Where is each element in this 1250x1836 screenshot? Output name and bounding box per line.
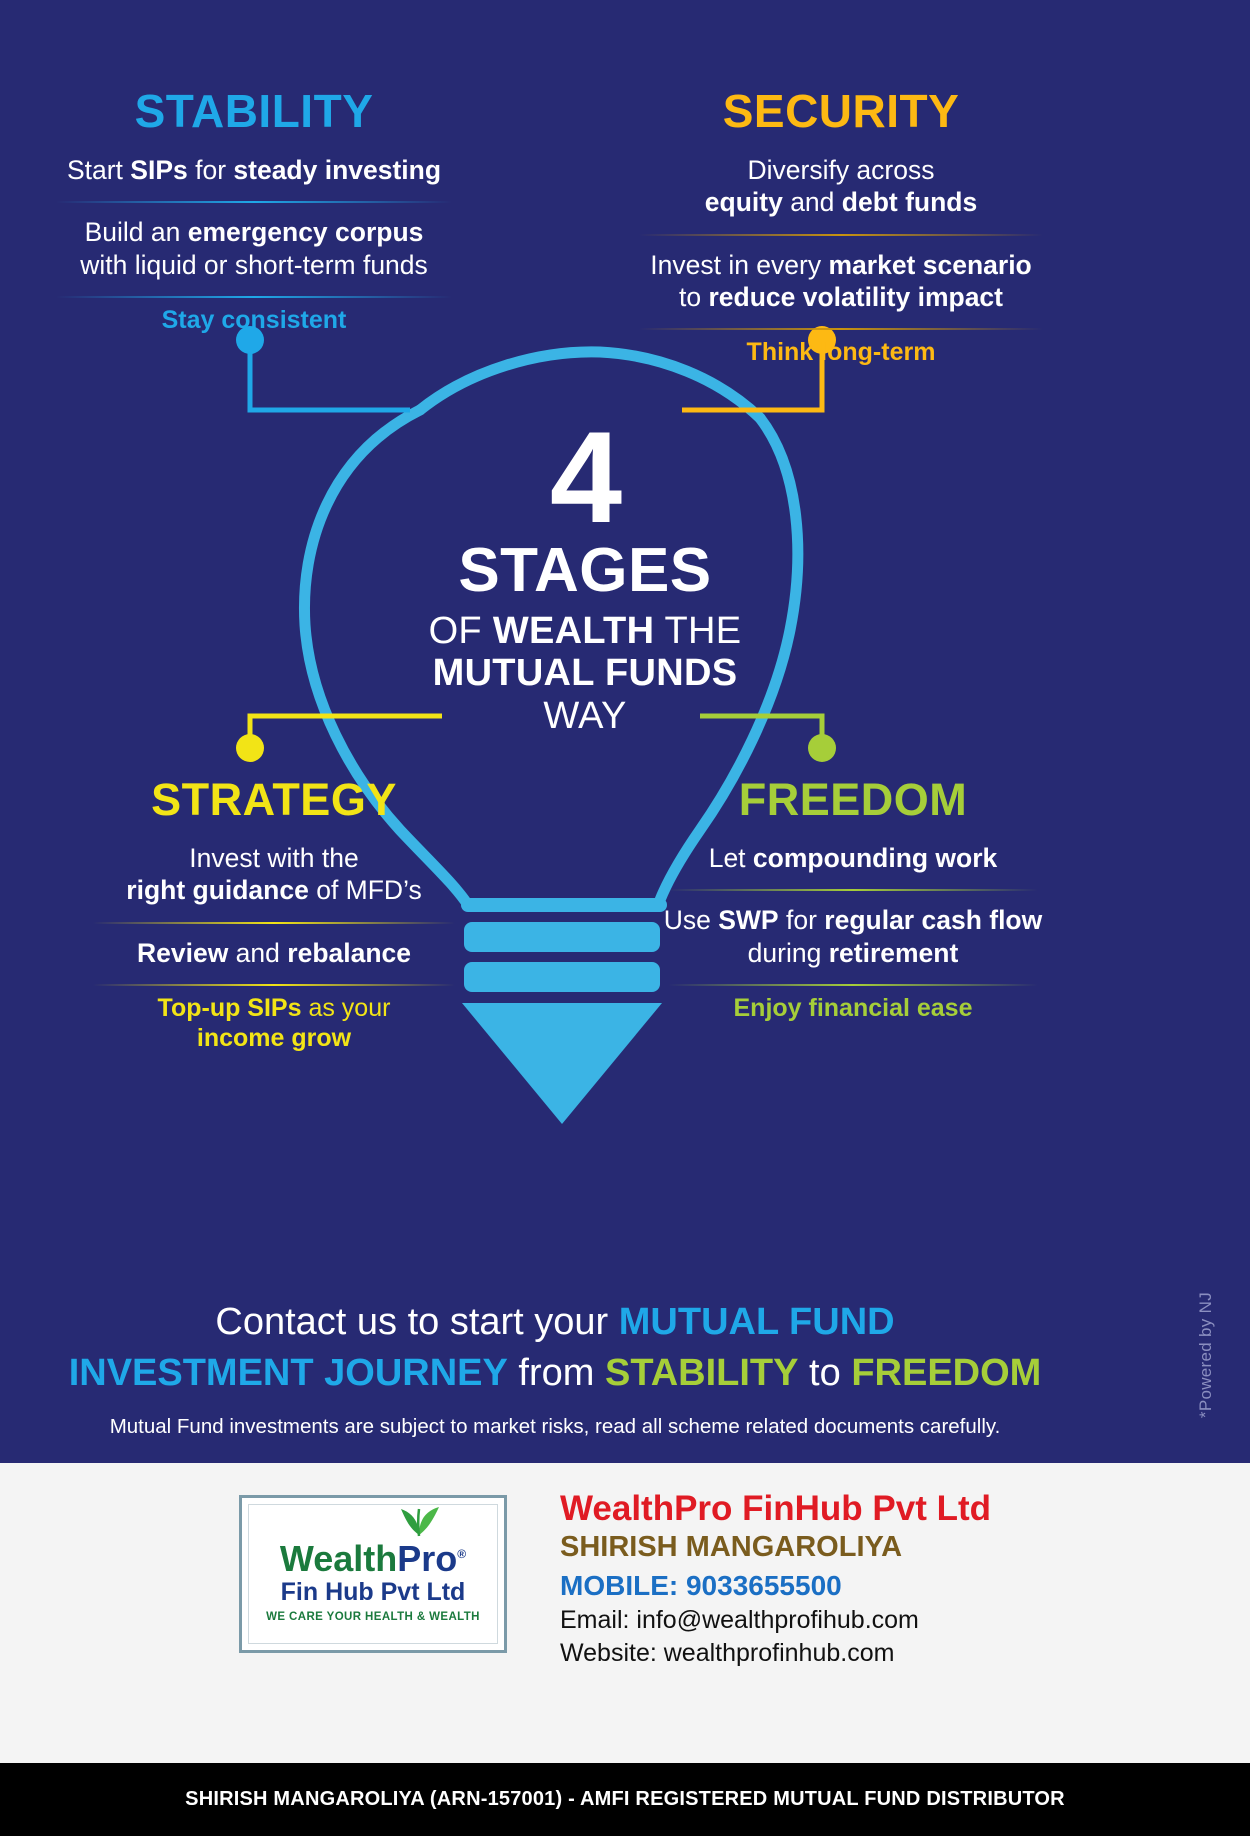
security-divider-2 <box>639 328 1043 330</box>
security-tagline: Think long-term <box>606 337 1076 367</box>
txt-bold: Top-up SIPs <box>158 994 302 1022</box>
strategy-line-2: right guidance of MFD’s <box>64 874 484 906</box>
quadrant-stability: STABILITY Start SIPs for steady investin… <box>24 88 484 335</box>
headline-number: 4 <box>375 418 795 538</box>
txt-bold: debt funds <box>842 187 977 217</box>
headline-mutual-funds: MUTUAL FUNDS <box>375 652 795 695</box>
strategy-tagline: Top-up SIPs as yourincome grow <box>64 993 484 1053</box>
headline-way: WAY <box>375 695 795 738</box>
txt: of MFD’s <box>309 875 422 905</box>
txt-bold: steady investing <box>233 155 441 185</box>
txt: during <box>748 938 829 968</box>
cta-text: Contact us to start your MUTUAL FUND INV… <box>50 1297 1060 1398</box>
logo-wealth: Wealth <box>280 1538 397 1579</box>
headline-of-wealth-the: OF WEALTH THE <box>375 610 795 653</box>
stability-line-1: Start SIPs for steady investing <box>24 154 484 186</box>
headline-wealth: WEALTH <box>493 610 655 652</box>
freedom-divider-1 <box>668 889 1038 891</box>
contact-company: WealthPro FinHub Pvt Ltd <box>560 1489 1200 1528</box>
headline-stages: STAGES <box>375 540 795 602</box>
txt: and <box>228 938 287 968</box>
quadrant-freedom: FREEDOM Let compounding work Use SWP for… <box>638 777 1068 1023</box>
headline-the: THE <box>654 610 741 652</box>
quadrant-title-freedom: FREEDOM <box>638 777 1068 822</box>
quadrant-strategy: STRATEGY Invest with the right guidance … <box>64 777 484 1053</box>
bulb-base-bar-2 <box>464 962 660 992</box>
strategy-block-1: Invest with the right guidance of MFD’s <box>64 836 484 915</box>
txt: Use <box>664 905 719 935</box>
logo-wordmark: WealthPro® <box>280 1541 466 1577</box>
infographic-poster: 4 STAGES OF WEALTH THE MUTUAL FUNDS WAY … <box>0 0 1250 1836</box>
cta-stability: STABILITY <box>605 1352 799 1394</box>
contact-block: WealthPro FinHub Pvt Ltd SHIRISH MANGARO… <box>560 1489 1200 1669</box>
security-block-2: Invest in every market scenario to reduc… <box>606 243 1076 322</box>
connector-dot-freedom <box>808 734 836 762</box>
logo-inner-frame: WealthPro® Fin Hub Pvt Ltd WE CARE YOUR … <box>248 1504 498 1644</box>
stability-line-3: with liquid or short-term funds <box>24 249 484 281</box>
connector-stability <box>250 345 410 410</box>
security-line-3: Invest in every market scenario <box>606 249 1076 281</box>
contact-email[interactable]: Email: info@wealthprofihub.com <box>560 1605 1200 1636</box>
txt: Build an <box>85 217 188 247</box>
txt-bold: retirement <box>829 938 959 968</box>
txt-bold: emergency corpus <box>188 217 424 247</box>
strategy-line-3: Review and rebalance <box>64 937 484 969</box>
cta-investment-journey: INVESTMENT JOURNEY <box>69 1352 508 1394</box>
security-line-1: Diversify across <box>606 154 1076 186</box>
disclaimer-text: Mutual Fund investments are subject to m… <box>50 1415 1060 1439</box>
txt-bold: compounding work <box>753 843 997 873</box>
arn-disclaimer-bar: SHIRISH MANGAROLIYA (ARN-157001) - AMFI … <box>0 1763 1250 1836</box>
stability-block-1: Start SIPs for steady investing <box>24 148 484 194</box>
txt-bold: equity <box>705 187 783 217</box>
company-logo: WealthPro® Fin Hub Pvt Ltd WE CARE YOUR … <box>239 1495 507 1653</box>
logo-subtitle: Fin Hub Pvt Ltd <box>281 1579 466 1607</box>
strategy-block-2: Review and rebalance <box>64 931 484 977</box>
stability-divider-1 <box>56 201 452 203</box>
quadrant-security: SECURITY Diversify across equity and deb… <box>606 88 1076 367</box>
freedom-block-2: Use SWP for regular cash flow during ret… <box>638 898 1068 977</box>
strategy-divider-2 <box>93 984 454 986</box>
freedom-line-3: during retirement <box>638 937 1068 969</box>
txt-bold: right guidance <box>126 875 309 905</box>
cta-freedom: FREEDOM <box>851 1352 1041 1394</box>
logo-tagline: WE CARE YOUR HEALTH & WEALTH <box>266 1611 480 1623</box>
leaf-icon <box>389 1503 449 1537</box>
registered-mark: ® <box>457 1547 466 1561</box>
security-line-2: equity and debt funds <box>606 186 1076 218</box>
stability-tagline: Stay consistent <box>24 305 484 335</box>
arn-text: SHIRISH MANGAROLIYA (ARN-157001) - AMFI … <box>185 1788 1065 1811</box>
txt: Invest in every <box>650 250 828 280</box>
powered-by-label: *Powered by NJ <box>1196 1292 1216 1418</box>
cta-from: from <box>508 1352 605 1394</box>
txt: for <box>188 155 234 185</box>
security-block-1: Diversify across equity and debt funds <box>606 148 1076 227</box>
quadrant-title-strategy: STRATEGY <box>64 777 484 822</box>
freedom-line-1: Let compounding work <box>638 842 1068 874</box>
contact-person: SHIRISH MANGAROLIYA <box>560 1530 1200 1565</box>
contact-website[interactable]: Website: wealthprofinhub.com <box>560 1638 1200 1669</box>
txt: as your <box>302 994 391 1022</box>
strategy-line-1: Invest with the <box>64 842 484 874</box>
txt: Start <box>67 155 130 185</box>
freedom-tagline: Enjoy financial ease <box>638 993 1068 1023</box>
headline-of: OF <box>429 610 493 652</box>
txt: to <box>679 282 708 312</box>
freedom-divider-2 <box>668 984 1038 986</box>
freedom-line-2: Use SWP for regular cash flow <box>638 904 1068 936</box>
freedom-block-1: Let compounding work <box>638 836 1068 882</box>
stability-divider-2 <box>56 296 452 298</box>
strategy-divider-1 <box>93 922 454 924</box>
txt-bold: Review <box>137 938 228 968</box>
cta-to: to <box>799 1352 852 1394</box>
stability-block-2: Build an emergency corpus with liquid or… <box>24 210 484 289</box>
txt: Let <box>709 843 753 873</box>
quadrant-title-security: SECURITY <box>606 88 1076 134</box>
footer-panel: WealthPro® Fin Hub Pvt Ltd WE CARE YOUR … <box>0 1463 1250 1763</box>
main-panel: 4 STAGES OF WEALTH THE MUTUAL FUNDS WAY … <box>0 0 1250 1463</box>
connector-dot-strategy <box>236 734 264 762</box>
txt-bold: rebalance <box>287 938 411 968</box>
center-headline: 4 STAGES OF WEALTH THE MUTUAL FUNDS WAY <box>375 418 795 737</box>
txt-bold: market scenario <box>828 250 1031 280</box>
txt-bold: SWP <box>718 905 778 935</box>
logo-pro: Pro <box>397 1538 457 1579</box>
txt: and <box>783 187 842 217</box>
cta-mutual-fund: MUTUAL FUND <box>619 1301 895 1343</box>
txt-bold: income grow <box>197 1024 351 1052</box>
txt-bold: regular cash flow <box>824 905 1042 935</box>
txt-bold: SIPs <box>130 155 187 185</box>
security-line-4: to reduce volatility impact <box>606 281 1076 313</box>
txt-bold: reduce volatility impact <box>708 282 1003 312</box>
quadrant-title-stability: STABILITY <box>24 88 484 134</box>
bulb-arrow-tip <box>462 1003 662 1124</box>
contact-mobile[interactable]: MOBILE: 9033655500 <box>560 1569 1200 1603</box>
bulb-base-bar-1 <box>464 922 660 952</box>
txt: for <box>779 905 825 935</box>
stability-line-2: Build an emergency corpus <box>24 216 484 248</box>
cta-part-1: Contact us to start your <box>215 1301 618 1343</box>
security-divider-1 <box>639 234 1043 236</box>
